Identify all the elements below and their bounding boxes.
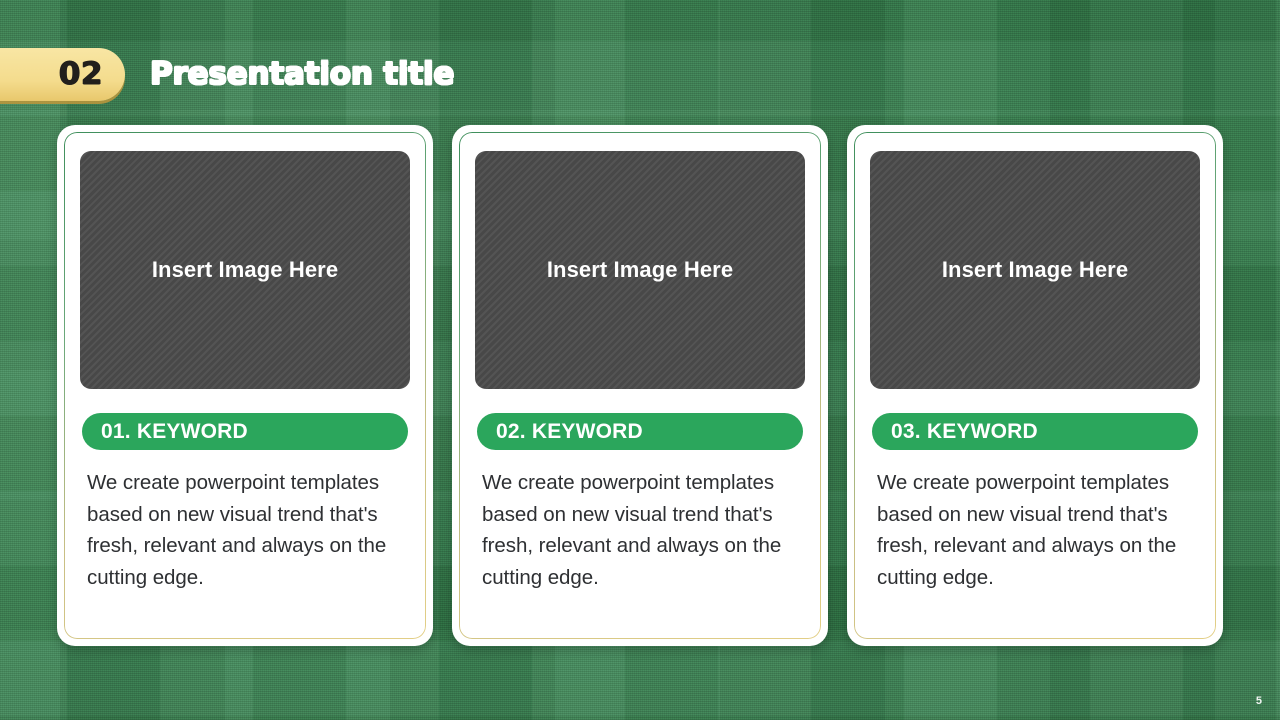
image-placeholder[interactable]: Insert Image Here [870,151,1200,389]
keyword-label: 01. KEYWORD [101,420,248,444]
image-placeholder-label: Insert Image Here [152,257,338,283]
section-number-badge: 02 [0,48,125,101]
content-card[interactable]: Insert Image Here 02. KEYWORD We create … [452,125,828,646]
card-body-text: We create powerpoint templates based on … [87,467,404,593]
section-number-label: 02 [59,56,103,92]
image-placeholder-label: Insert Image Here [547,257,733,283]
content-card[interactable]: Insert Image Here 01. KEYWORD We create … [57,125,433,646]
keyword-pill: 01. KEYWORD [82,413,408,450]
image-placeholder[interactable]: Insert Image Here [475,151,805,389]
image-placeholder-label: Insert Image Here [942,257,1128,283]
slide-header: 02 Presentation title [0,46,454,102]
keyword-pill: 02. KEYWORD [477,413,803,450]
page-title: Presentation title [150,56,454,92]
card-list: Insert Image Here 01. KEYWORD We create … [57,125,1223,646]
card-body-text: We create powerpoint templates based on … [482,467,799,593]
keyword-pill: 03. KEYWORD [872,413,1198,450]
page-number: 5 [1256,695,1262,707]
keyword-label: 02. KEYWORD [496,420,643,444]
content-card[interactable]: Insert Image Here 03. KEYWORD We create … [847,125,1223,646]
card-body-text: We create powerpoint templates based on … [877,467,1194,593]
image-placeholder[interactable]: Insert Image Here [80,151,410,389]
presentation-slide: 02 Presentation title Insert Image Here … [0,0,1280,720]
keyword-label: 03. KEYWORD [891,420,1038,444]
